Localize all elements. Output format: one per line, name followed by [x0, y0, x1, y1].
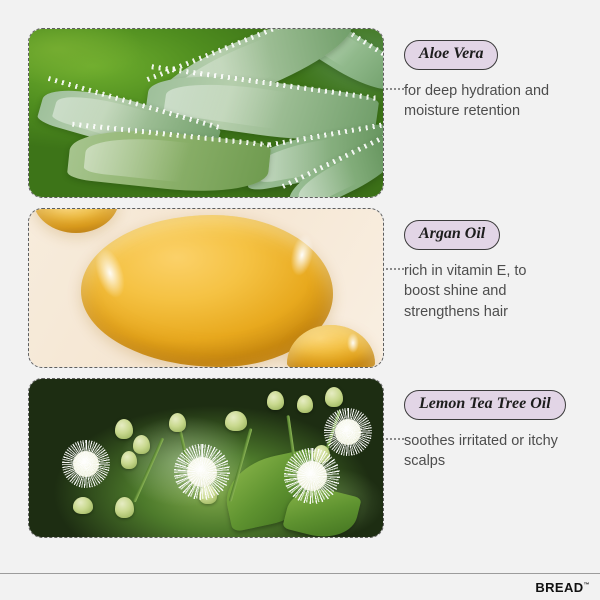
flower-bud [115, 497, 134, 518]
trademark-symbol: ™ [584, 583, 590, 589]
connector-line-lemon-tea-tree-oil [386, 438, 404, 440]
flower-bloom [297, 461, 327, 491]
flower-bud [225, 411, 247, 431]
footer-divider [0, 573, 600, 574]
flower-bud [133, 435, 150, 454]
ingredient-pill-lemon-tea-tree-oil[interactable]: Lemon Tea Tree Oil [404, 390, 566, 420]
flower-bud [115, 419, 133, 439]
infographic-page: Aloe Vera for deep hydration and moistur… [0, 0, 600, 600]
lemon-tea-tree-photo [29, 379, 383, 537]
flower-bloom [335, 419, 361, 445]
flower-bud [169, 413, 186, 432]
ingredient-image-card-lemon-tea-tree-oil[interactable] [28, 378, 384, 538]
flower-bud [297, 395, 313, 413]
brand-logo-text: BREAD [535, 580, 583, 595]
ingredient-description-aloe-vera: for deep hydration and moisture retentio… [404, 81, 564, 122]
connector-line-argan-oil [386, 268, 404, 270]
ingredient-pill-argan-oil[interactable]: Argan Oil [404, 220, 500, 250]
brand-logo[interactable]: BREAD™ [535, 580, 590, 595]
aloe-vera-photo [29, 29, 383, 197]
argan-oil-photo [29, 209, 383, 367]
ingredient-info-argan-oil: Argan Oil rich in vitamin E, to boost sh… [404, 220, 594, 323]
flower-bud [73, 497, 93, 514]
flower-bloom [73, 451, 99, 477]
flower-bud [121, 451, 137, 469]
ingredient-image-card-argan-oil[interactable] [28, 208, 384, 368]
ingredient-info-lemon-tea-tree-oil: Lemon Tea Tree Oil soothes irritated or … [404, 390, 594, 472]
ingredient-description-lemon-tea-tree-oil: soothes irritated or itchy scalps [404, 431, 564, 472]
ingredient-info-aloe-vera: Aloe Vera for deep hydration and moistur… [404, 40, 594, 122]
connector-line-aloe-vera [386, 88, 404, 90]
flower-bloom [187, 457, 217, 487]
flower-bud [267, 391, 284, 410]
flower-bud [325, 387, 343, 407]
ingredient-image-card-aloe-vera[interactable] [28, 28, 384, 198]
ingredient-description-argan-oil: rich in vitamin E, to boost shine and st… [404, 261, 564, 323]
ingredient-pill-aloe-vera[interactable]: Aloe Vera [404, 40, 498, 70]
